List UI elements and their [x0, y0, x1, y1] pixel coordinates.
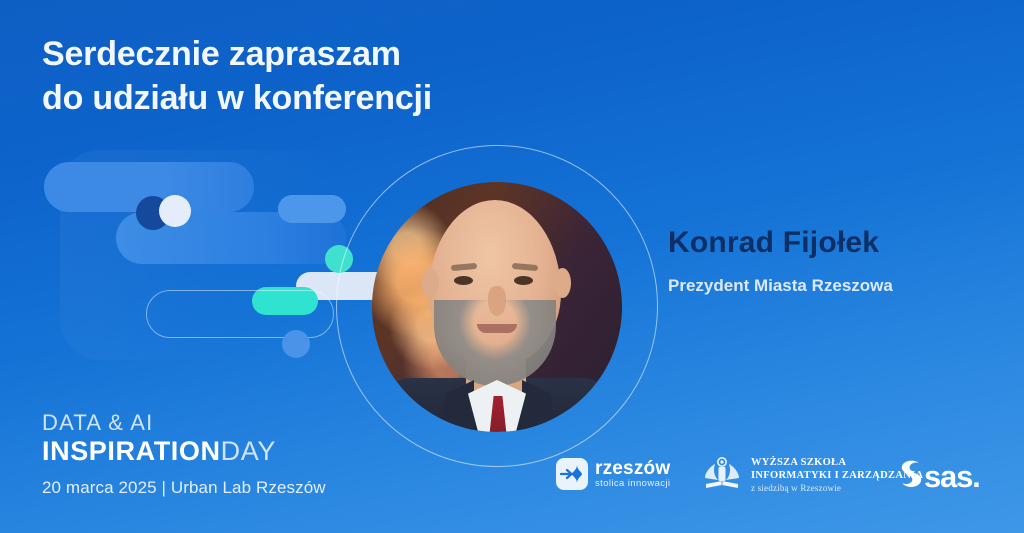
avatar: [372, 182, 622, 432]
portrait-ear-right: [554, 268, 571, 298]
sas-wordmark: sas.: [924, 461, 980, 492]
page-title: Serdecznie zapraszam do udziału w konfer…: [42, 32, 432, 120]
speaker-name: Konrad Fijołek: [668, 226, 879, 260]
portrait-eye-right: [514, 276, 533, 285]
logo-strip: rzeszów stolica innowacji WYŻSZA SZKOŁA …: [556, 452, 996, 508]
event-brand-inspiration: INSPIRATION: [42, 436, 221, 466]
portrait-mouth: [477, 324, 517, 333]
conference-invitation-banner: Serdecznie zapraszam do udziału w konfer…: [0, 0, 1024, 533]
logo-wsiz: WYŻSZA SZKOŁA INFORMATYKI I ZARZĄDZANIA …: [701, 454, 923, 496]
speaker-role: Prezydent Miasta Rzeszowa: [668, 276, 893, 296]
decorative-pill-3: [278, 195, 346, 223]
decorative-dot-white: [159, 195, 191, 227]
logo-sas: sas.: [898, 458, 980, 495]
decorative-pill-outline: [146, 290, 334, 338]
logo-rzeszow: rzeszów stolica innowacji: [556, 458, 670, 490]
event-brand-line1: DATA & AI: [42, 410, 276, 436]
sas-swoosh-icon: [898, 458, 924, 495]
event-brand: DATA & AI INSPIRATIONDAY: [42, 410, 276, 466]
rzeszow-arrow-icon: [556, 458, 588, 490]
event-brand-line2: INSPIRATIONDAY: [42, 436, 276, 466]
rzeszow-text: rzeszów stolica innowacji: [595, 459, 670, 489]
event-brand-day: DAY: [221, 436, 276, 466]
event-date-venue: 20 marca 2025 | Urban Lab Rzeszów: [42, 478, 326, 498]
decorative-dot-blue: [282, 330, 310, 358]
rzeszow-name: rzeszów: [595, 459, 670, 479]
wsiz-crest-icon: [701, 454, 743, 496]
rzeszow-tagline: stolica innowacji: [595, 479, 670, 489]
portrait-ear-left: [422, 268, 439, 298]
portrait-eye-left: [454, 276, 473, 285]
